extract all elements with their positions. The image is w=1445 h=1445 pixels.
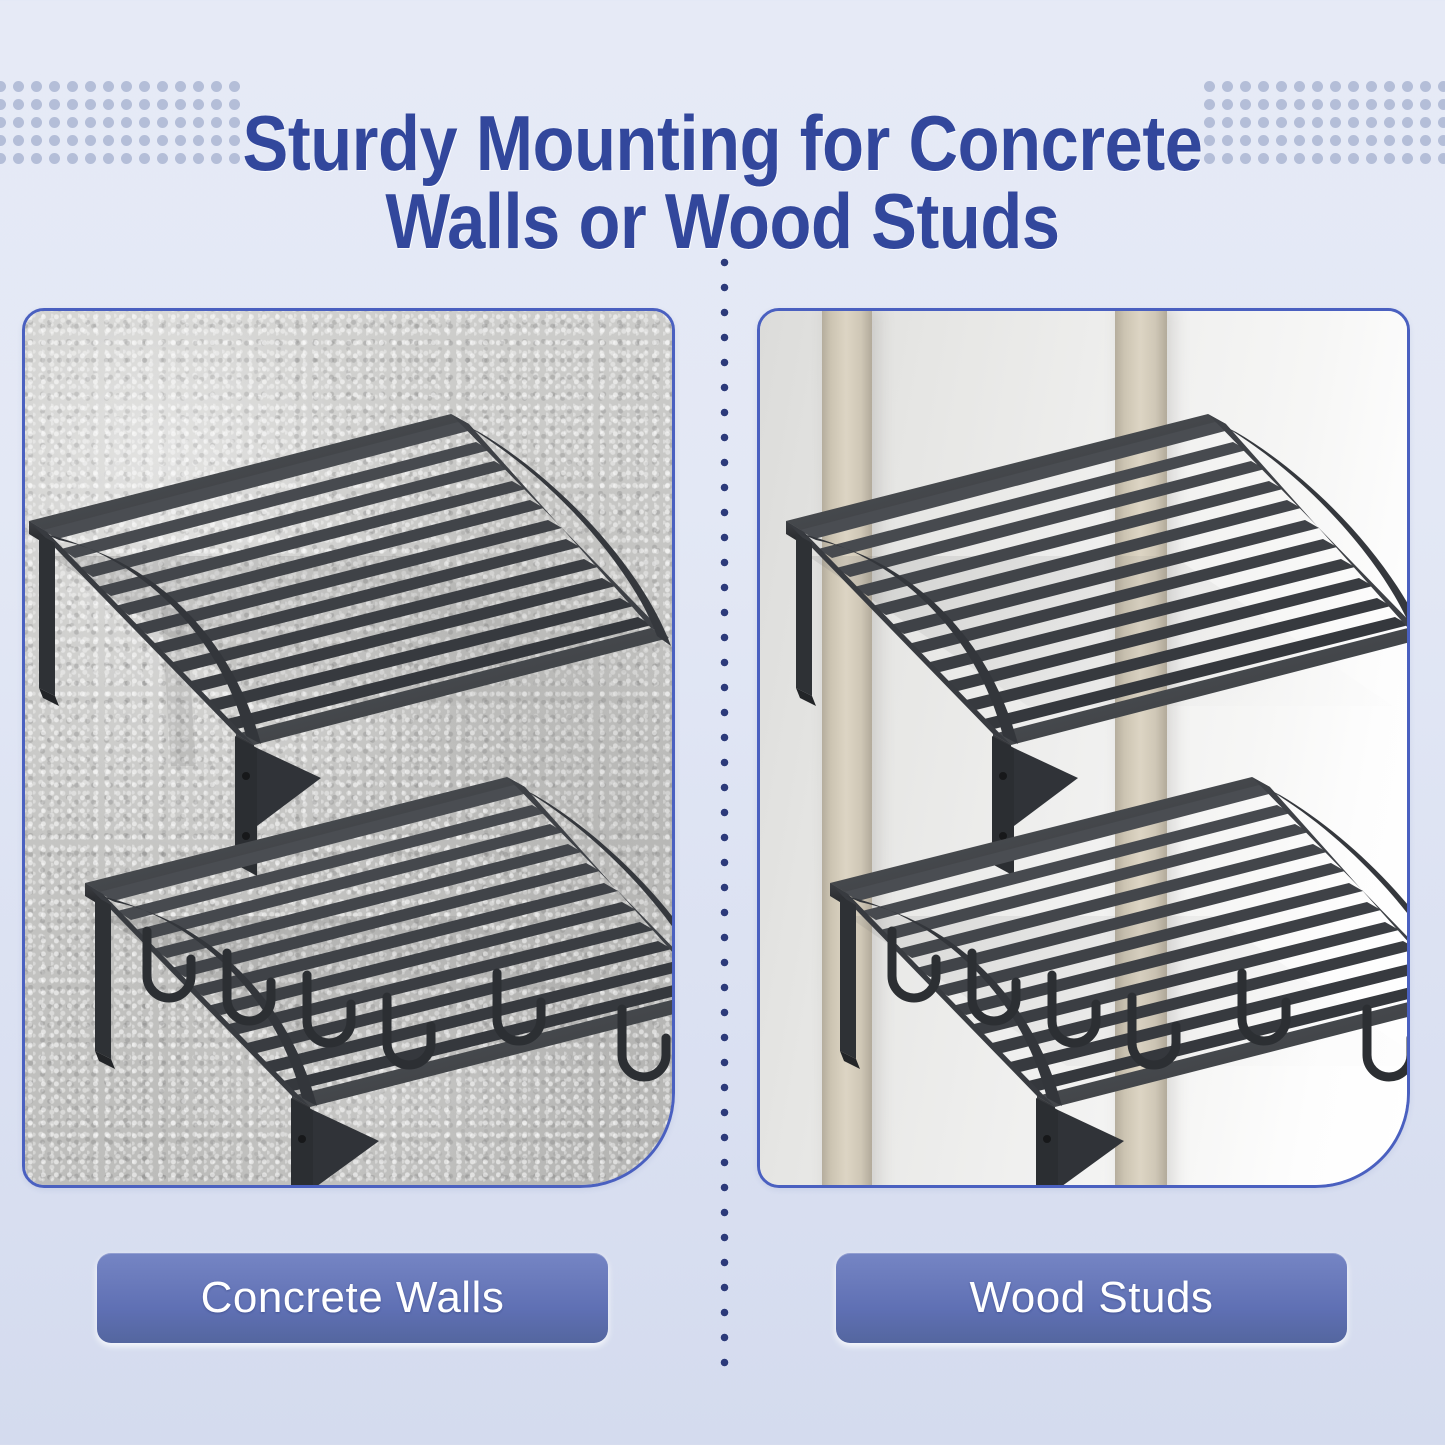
dot [1402, 153, 1413, 164]
dot [1384, 99, 1395, 110]
dot [1402, 99, 1413, 110]
dot [1294, 81, 1305, 92]
dot [1420, 99, 1431, 110]
vertical-dotted-divider [719, 250, 730, 1380]
concrete-lower-shelf [77, 771, 672, 1185]
dot [31, 81, 42, 92]
dot [1384, 81, 1395, 92]
dot [1438, 99, 1445, 110]
dot [1402, 135, 1413, 146]
dot [49, 153, 60, 164]
dot [67, 99, 78, 110]
dot [31, 117, 42, 128]
dot [67, 81, 78, 92]
dot [67, 117, 78, 128]
dot [193, 81, 204, 92]
dot [1204, 81, 1215, 92]
wood-stud-wall-photo [760, 311, 1407, 1185]
lower-shelf-bracket-right [291, 1098, 379, 1185]
dot [1240, 81, 1251, 92]
dot [1438, 153, 1445, 164]
dot [103, 81, 114, 92]
panel-wood-studs [757, 308, 1410, 1188]
dot [13, 81, 24, 92]
dot [1366, 117, 1377, 128]
lower-shelf-illustration-right [822, 771, 1407, 1185]
caption-wood-studs[interactable]: Wood Studs [836, 1253, 1347, 1343]
stud-upper-shelf [778, 406, 1407, 826]
dot [31, 135, 42, 146]
lower-shelf-illustration [77, 771, 672, 1185]
concrete-wall-photo [25, 311, 672, 1185]
dot [1420, 135, 1431, 146]
dot [1402, 81, 1413, 92]
dot [1312, 81, 1323, 92]
dot [13, 153, 24, 164]
dot [1402, 117, 1413, 128]
panel-concrete-walls [22, 308, 675, 1188]
upper-shelf-bracket-left-right-panel [796, 534, 816, 706]
upper-shelf-bracket-left [39, 534, 59, 706]
stud-lower-shelf [822, 771, 1407, 1185]
dot [1366, 135, 1377, 146]
dot [49, 99, 60, 110]
dot [229, 81, 240, 92]
dot [1348, 81, 1359, 92]
dot [0, 117, 6, 128]
dot [49, 135, 60, 146]
dot [67, 153, 78, 164]
dot [49, 117, 60, 128]
dot [175, 81, 186, 92]
dot [0, 81, 6, 92]
dot [1420, 81, 1431, 92]
dot [1420, 117, 1431, 128]
dot [139, 81, 150, 92]
upper-shelf-illustration [25, 406, 661, 826]
dot [1438, 81, 1445, 92]
dot [1366, 81, 1377, 92]
dot [1384, 153, 1395, 164]
title-line-2: Walls or Wood Studs [87, 182, 1359, 260]
concrete-upper-shelf [25, 406, 661, 826]
caption-concrete-walls-label: Concrete Walls [201, 1273, 505, 1323]
dot [31, 99, 42, 110]
dot [13, 135, 24, 146]
dot [1384, 135, 1395, 146]
dot [0, 153, 6, 164]
title-line-1: Sturdy Mounting for Concrete [87, 104, 1359, 182]
dot [1366, 153, 1377, 164]
dot [1276, 81, 1287, 92]
dot [1438, 135, 1445, 146]
dot [121, 81, 132, 92]
dot [1330, 81, 1341, 92]
upper-shelf-illustration-right [778, 406, 1407, 826]
dot [1420, 153, 1431, 164]
dot [0, 99, 6, 110]
dot [13, 117, 24, 128]
dot [1222, 81, 1233, 92]
caption-concrete-walls[interactable]: Concrete Walls [97, 1253, 608, 1343]
dot [1438, 117, 1445, 128]
dot [1366, 99, 1377, 110]
dot [1384, 117, 1395, 128]
dot [85, 81, 96, 92]
lower-shelf-bracket-right-right-panel [1036, 1098, 1124, 1185]
dot [31, 153, 42, 164]
infographic-root: Sturdy Mounting for Concrete Walls or Wo… [0, 0, 1445, 1445]
page-title: Sturdy Mounting for Concrete Walls or Wo… [87, 104, 1359, 260]
caption-wood-studs-label: Wood Studs [970, 1273, 1214, 1323]
dot [67, 135, 78, 146]
dot [157, 81, 168, 92]
dot [1258, 81, 1269, 92]
dot [13, 99, 24, 110]
dot [49, 81, 60, 92]
dot [211, 81, 222, 92]
dot [0, 135, 6, 146]
